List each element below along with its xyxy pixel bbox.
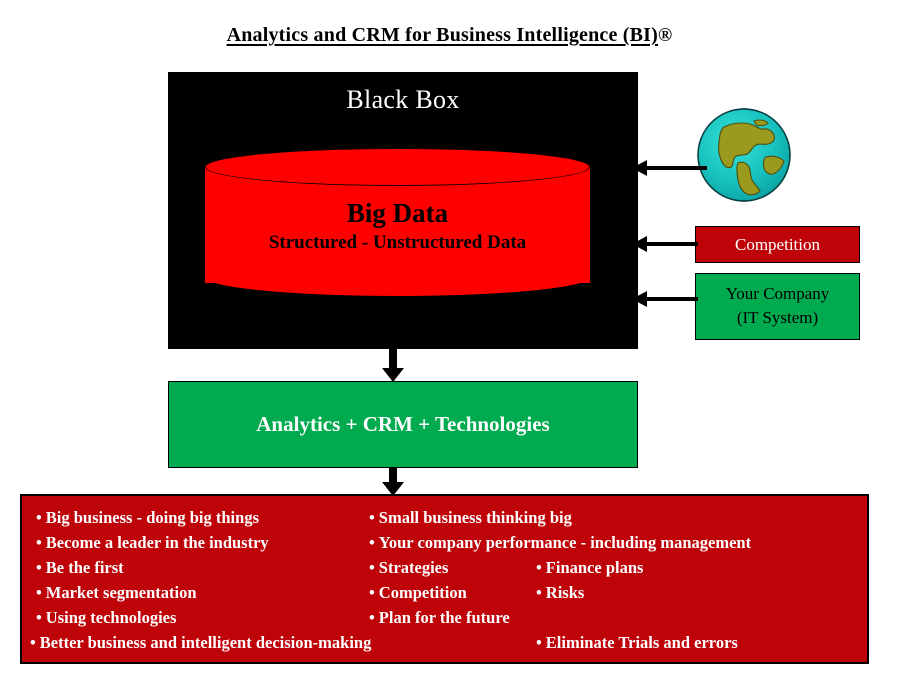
bullet-glyph: • — [369, 508, 375, 527]
arrow-head — [632, 291, 647, 307]
your-company-label-line2: (IT System) — [696, 306, 859, 330]
benefit-item: •Using technologies — [36, 607, 176, 629]
benefit-text: Competition — [379, 583, 467, 602]
benefits-row: •Using technologies •Plan for the future — [22, 607, 867, 634]
your-company-box: Your Company (IT System) — [695, 273, 860, 340]
arrow-head — [382, 368, 404, 382]
arrow-blackbox-to-analytics — [382, 349, 404, 382]
benefit-item: •Plan for the future — [369, 607, 510, 629]
benefit-text: Finance plans — [546, 558, 644, 577]
benefit-text: Big business - doing big things — [46, 508, 259, 527]
bullet-glyph: • — [30, 633, 36, 652]
bullet-glyph: • — [369, 608, 375, 627]
arrow-analytics-to-benefits — [382, 467, 404, 496]
arrow-shaft — [645, 166, 707, 170]
benefits-row: •Become a leader in the industry •Your c… — [22, 532, 867, 559]
benefit-item: •Be the first — [36, 557, 124, 579]
benefit-item: •Strategies — [369, 557, 448, 579]
benefit-text: Risks — [546, 583, 585, 602]
benefit-text: Be the first — [46, 558, 124, 577]
registered-mark: ® — [658, 25, 672, 46]
benefit-item: •Market segmentation — [36, 582, 197, 604]
bullet-glyph: • — [36, 558, 42, 577]
bullet-glyph: • — [369, 533, 375, 552]
bullet-glyph: • — [36, 608, 42, 627]
benefit-item: •Big business - doing big things — [36, 507, 259, 529]
benefit-item: •Your company performance - including ma… — [369, 532, 751, 554]
arrow-head — [632, 160, 647, 176]
benefits-row: •Market segmentation •Competition •Risks — [22, 582, 867, 609]
benefit-item: •Better business and intelligent decisio… — [30, 632, 371, 654]
benefits-row: •Better business and intelligent decisio… — [22, 632, 867, 659]
benefit-text: Plan for the future — [379, 608, 510, 627]
benefit-item: •Competition — [369, 582, 467, 604]
structured-unstructured-label: Structured - Unstructured Data — [205, 230, 590, 256]
bullet-glyph: • — [369, 583, 375, 602]
bullet-glyph: • — [36, 533, 42, 552]
cylinder-top-ellipse — [205, 148, 590, 186]
arrow-head — [632, 236, 647, 252]
bullet-glyph: • — [36, 508, 42, 527]
cylinder-labels: Big Data Structured - Unstructured Data — [205, 196, 590, 256]
benefits-row: •Big business - doing big things •Small … — [22, 507, 867, 534]
black-box-label: Black Box — [168, 85, 638, 115]
benefits-row: •Be the first •Strategies •Finance plans — [22, 557, 867, 584]
benefit-item: •Small business thinking big — [369, 507, 572, 529]
competition-label: Competition — [735, 235, 820, 254]
big-data-cylinder: Big Data Structured - Unstructured Data — [205, 148, 590, 308]
benefit-item: •Eliminate Trials and errors — [536, 632, 738, 654]
diagram-canvas: Analytics and CRM for Business Intellige… — [0, 0, 899, 683]
page-title: Analytics and CRM for Business Intellige… — [0, 24, 899, 47]
arrow-shaft — [389, 349, 397, 369]
arrow-shaft — [389, 467, 397, 483]
benefit-text: Market segmentation — [46, 583, 197, 602]
bullet-glyph: • — [36, 583, 42, 602]
benefit-item: •Risks — [536, 582, 584, 604]
bullet-glyph: • — [369, 558, 375, 577]
bullet-glyph: • — [536, 583, 542, 602]
analytics-label: Analytics + CRM + Technologies — [256, 412, 549, 437]
benefit-text: Strategies — [379, 558, 449, 577]
benefit-text: Eliminate Trials and errors — [546, 633, 738, 652]
benefit-item: •Become a leader in the industry — [36, 532, 269, 554]
benefits-panel: •Big business - doing big things •Small … — [20, 494, 869, 664]
benefit-text: Small business thinking big — [379, 508, 572, 527]
arrow-shaft — [645, 242, 698, 246]
globe-icon — [694, 105, 794, 205]
bullet-glyph: • — [536, 558, 542, 577]
benefit-item: •Finance plans — [536, 557, 643, 579]
benefit-text: Better business and intelligent decision… — [40, 633, 372, 652]
benefit-text: Using technologies — [46, 608, 177, 627]
analytics-crm-technologies-box: Analytics + CRM + Technologies — [168, 381, 638, 468]
benefit-text: Your company performance - including man… — [379, 533, 751, 552]
arrow-competition-to-blackbox — [632, 236, 698, 252]
benefit-text: Become a leader in the industry — [46, 533, 269, 552]
arrow-shaft — [645, 297, 698, 301]
page-title-text: Analytics and CRM for Business Intellige… — [227, 24, 658, 46]
your-company-label-line1: Your Company — [696, 282, 859, 306]
bullet-glyph: • — [536, 633, 542, 652]
arrow-company-to-blackbox — [632, 291, 698, 307]
arrow-globe-to-blackbox — [632, 160, 707, 176]
big-data-label: Big Data — [205, 196, 590, 230]
competition-box: Competition — [695, 226, 860, 263]
